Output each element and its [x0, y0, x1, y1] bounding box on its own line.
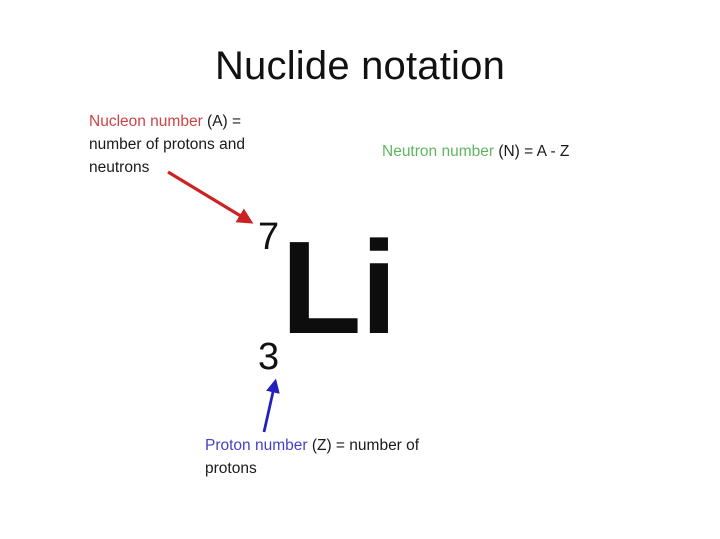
element-symbol: Li: [281, 222, 396, 354]
annotation-nucleon-number: Nucleon number (A) = number of protons a…: [89, 110, 304, 179]
page-title: Nuclide notation: [0, 44, 720, 89]
annotation-proton-number: Proton number (Z) = number of protons: [205, 434, 495, 480]
mass-number-superscript: 7: [258, 218, 279, 256]
proton-number-arrow: [264, 383, 275, 432]
annotation-neutron-key: Neutron number: [382, 143, 494, 160]
annotation-neutron-number: Neutron number (N) = A - Z: [382, 140, 622, 163]
nucleon-number-arrow: [168, 172, 249, 221]
slide-canvas: Nuclide notation Nucleon number (A) = nu…: [0, 0, 720, 539]
annotation-nucleon-key: Nucleon number: [89, 113, 203, 130]
nuclide-symbol-group: 7 3 Li: [250, 218, 430, 388]
annotation-neutron-rest: (N) = A - Z: [494, 143, 569, 160]
atomic-number-subscript: 3: [258, 338, 279, 376]
annotation-proton-key: Proton number: [205, 437, 308, 454]
